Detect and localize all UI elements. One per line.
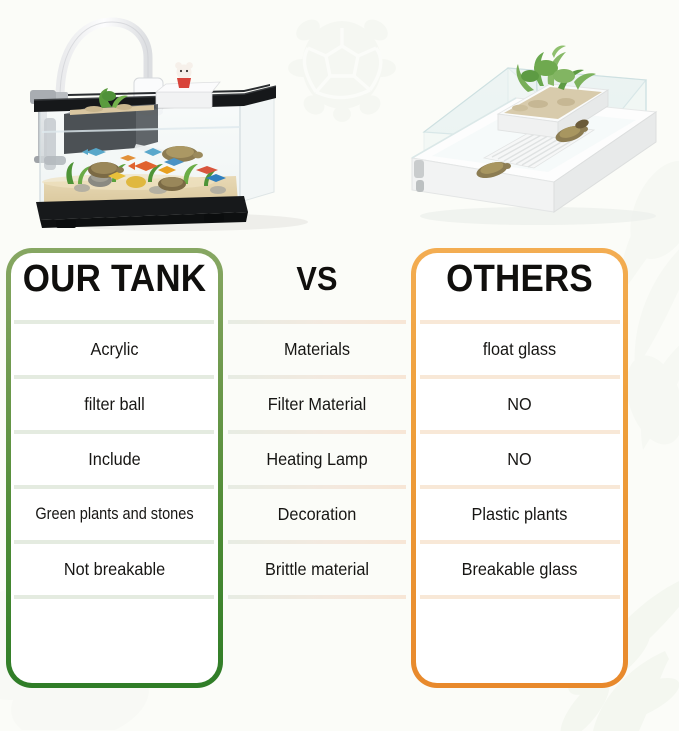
cell-others: NO (419, 434, 621, 485)
cell-others: NO (419, 379, 621, 430)
comparison-table: OUR TANK VS OTHERS Acrylic Materials flo… (0, 238, 679, 721)
comparison-rows: OUR TANK VS OTHERS Acrylic Materials flo… (0, 238, 679, 721)
cell-others: Breakable glass (419, 544, 621, 595)
product-photo-row (0, 0, 679, 238)
cell-feature: Decoration (230, 489, 405, 540)
table-row: Not breakable Brittle material Breakable… (0, 544, 679, 595)
others-tank-photo (388, 40, 673, 230)
cell-feature: Materials (230, 324, 405, 375)
table-row: Include Heating Lamp NO (0, 434, 679, 485)
cell-ours: filter ball (14, 379, 216, 430)
turtle (158, 177, 186, 191)
cell-feature: Filter Material (230, 379, 405, 430)
table-row: filter ball Filter Material NO (0, 379, 679, 430)
header-vs: VS (230, 238, 405, 320)
cell-ours: Acrylic (14, 324, 216, 375)
table-row: Green plants and stones Decoration Plast… (0, 489, 679, 540)
row-separator (0, 595, 679, 599)
table-row: Acrylic Materials float glass (0, 324, 679, 375)
cell-others: Plastic plants (419, 489, 621, 540)
cell-feature: Brittle material (230, 544, 405, 595)
our-tank-photo (8, 6, 338, 234)
cell-others: float glass (419, 324, 621, 375)
table-header-row: OUR TANK VS OTHERS (0, 238, 679, 320)
cell-ours: Include (14, 434, 216, 485)
cell-ours: Green plants and stones (19, 489, 210, 540)
header-our-tank: OUR TANK (15, 238, 215, 320)
cell-feature: Heating Lamp (230, 434, 405, 485)
cell-ours: Not breakable (14, 544, 216, 595)
header-others: OTHERS (420, 238, 620, 320)
